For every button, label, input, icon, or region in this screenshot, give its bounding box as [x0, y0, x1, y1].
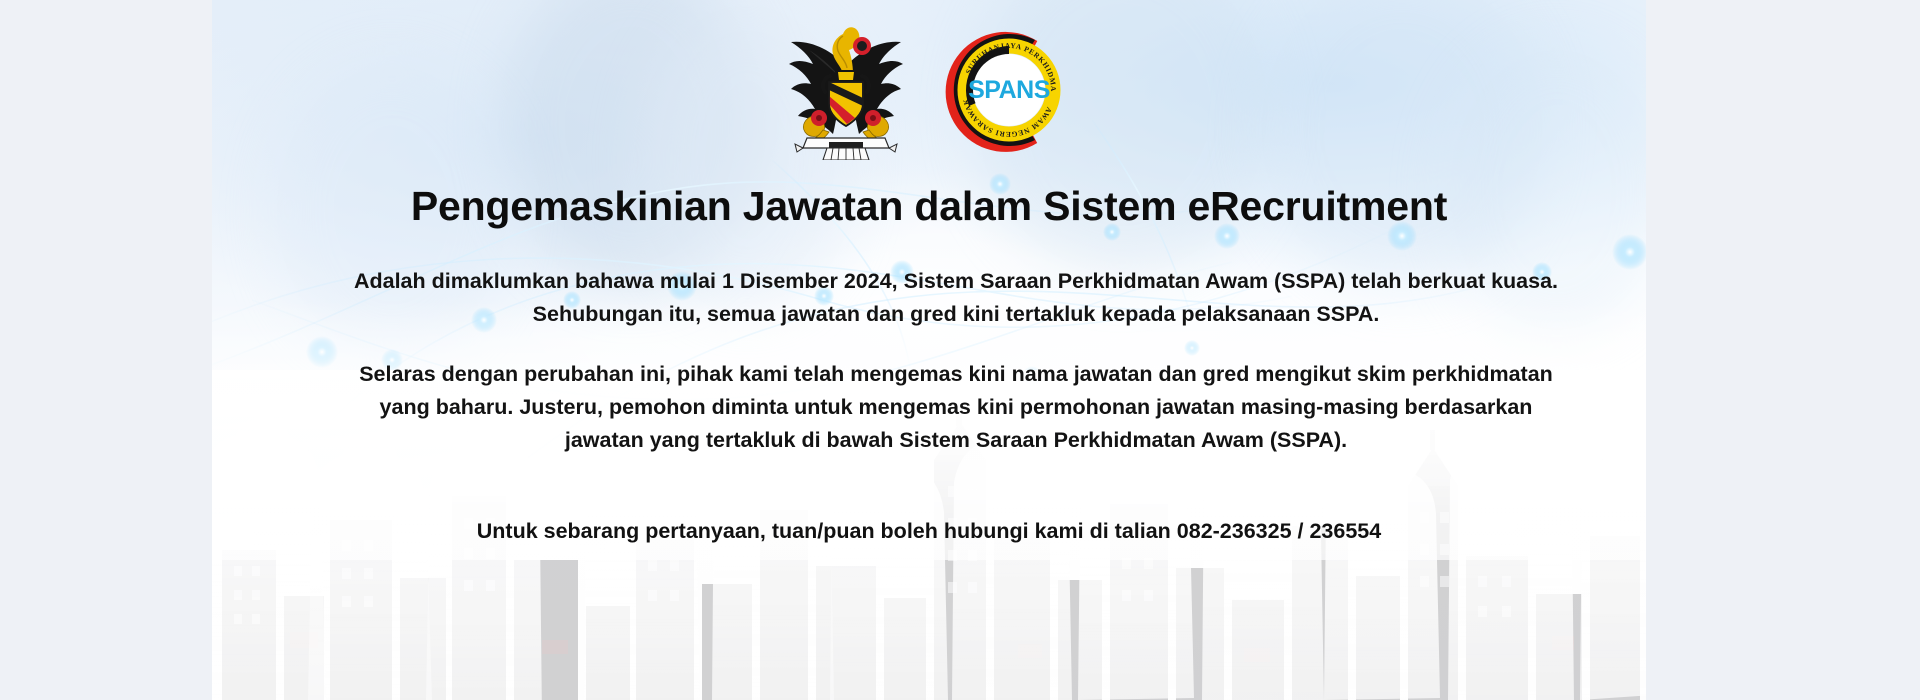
page-root: SURUHANJAYA PERKHIDMATAN AWAM NEGERI SAR… — [0, 0, 1920, 700]
logo-row: SURUHANJAYA PERKHIDMATAN AWAM NEGERI SAR… — [212, 20, 1646, 160]
sarawak-coat-of-arms-icon — [783, 20, 909, 160]
announcement-body: Adalah dimaklumkan bahawa mulai 1 Disemb… — [352, 265, 1560, 456]
page-title: Pengemaskinian Jawatan dalam Sistem eRec… — [212, 182, 1646, 231]
banner-content: SURUHANJAYA PERKHIDMATAN AWAM NEGERI SAR… — [212, 0, 1646, 700]
contact-line: Untuk sebarang pertanyaan, tuan/puan bol… — [212, 519, 1646, 544]
announcement-banner: SURUHANJAYA PERKHIDMATAN AWAM NEGERI SAR… — [212, 0, 1646, 700]
spans-wordmark: SPANS — [968, 76, 1050, 104]
spans-logo-icon: SURUHANJAYA PERKHIDMATAN AWAM NEGERI SAR… — [943, 24, 1075, 156]
announcement-paragraph-1: Adalah dimaklumkan bahawa mulai 1 Disemb… — [352, 265, 1560, 330]
announcement-paragraph-2: Selaras dengan perubahan ini, pihak kami… — [352, 358, 1560, 456]
